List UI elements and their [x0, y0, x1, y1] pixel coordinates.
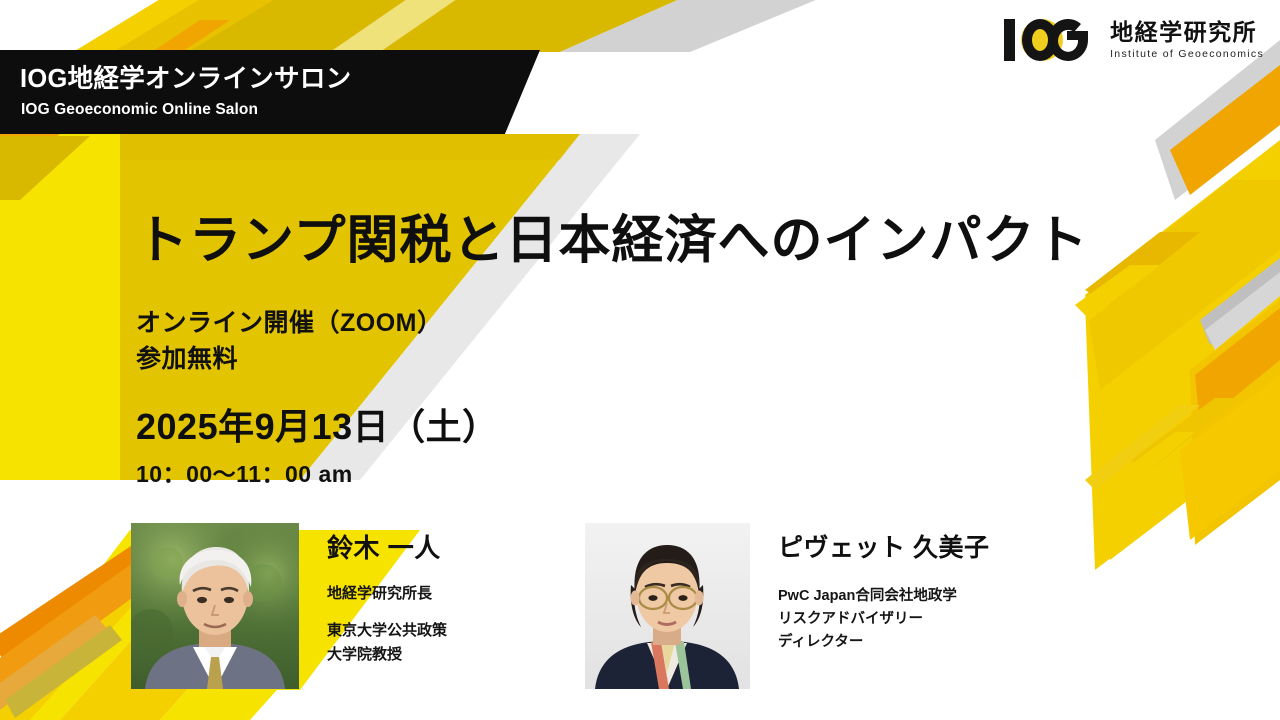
speaker-photo-2 — [585, 523, 750, 689]
event-date: 2025年9月13日（土） — [136, 398, 499, 450]
speaker-name-2: ピヴェット 久美子 — [778, 533, 989, 563]
event-time: 10：00〜11：00 am — [136, 455, 353, 489]
speaker-info-1: 鈴木 一人 地経学研究所長 東京大学公共政策 大学院教授 — [299, 523, 447, 666]
logo-name-en: Institute of Geoeconomics — [1110, 48, 1264, 60]
right-side-panels — [1075, 40, 1280, 570]
banner-title-en: IOG Geoeconomic Online Salon — [21, 101, 258, 119]
speaker-affiliation-1: 地経学研究所長 — [327, 582, 447, 605]
logo-text-block: 地経学研究所 Institute of Geoeconomics — [1106, 20, 1264, 60]
event-fee: 参加無料 — [136, 339, 238, 375]
speaker-name-1: 鈴木 一人 — [327, 533, 447, 564]
speaker-card-1: 鈴木 一人 地経学研究所長 東京大学公共政策 大学院教授 — [131, 523, 447, 689]
banner-title-jp: IOG地経学オンラインサロン — [20, 58, 351, 95]
presentation-slide: IOG地経学オンラインサロン IOG Geoeconomic Online Sa… — [0, 0, 1280, 720]
speaker-affiliation-2-line1: PwC Japan合同会社地政学 — [778, 585, 989, 608]
speaker-affiliation-2-line3: ディレクター — [778, 631, 989, 654]
logo-name-jp: 地経学研究所 — [1110, 20, 1257, 45]
speaker-affiliation-2: PwC Japan合同会社地政学 リスクアドバイザリー ディレクター — [778, 585, 989, 655]
speaker-photo-1 — [131, 523, 299, 689]
speaker-affiliation-1-extra: 東京大学公共政策 大学院教授 — [327, 619, 447, 666]
iog-logo: 地経学研究所 Institute of Geoeconomics — [1002, 14, 1264, 66]
speaker-card-2: ピヴェット 久美子 PwC Japan合同会社地政学 リスクアドバイザリー ディ… — [585, 523, 989, 689]
speaker-affiliation-1-line2: 大学院教授 — [327, 643, 447, 666]
speaker-info-2: ピヴェット 久美子 PwC Japan合同会社地政学 リスクアドバイザリー ディ… — [750, 523, 989, 655]
page-title: トランプ関税と日本経済へのインパクト — [136, 198, 1088, 273]
iog-logomark-icon — [1002, 14, 1094, 66]
speaker-affiliation-2-line2: リスクアドバイザリー — [778, 608, 989, 631]
event-format: オンライン開催（ZOOM） — [136, 303, 443, 339]
speaker-affiliation-1-line1: 東京大学公共政策 — [327, 619, 447, 642]
